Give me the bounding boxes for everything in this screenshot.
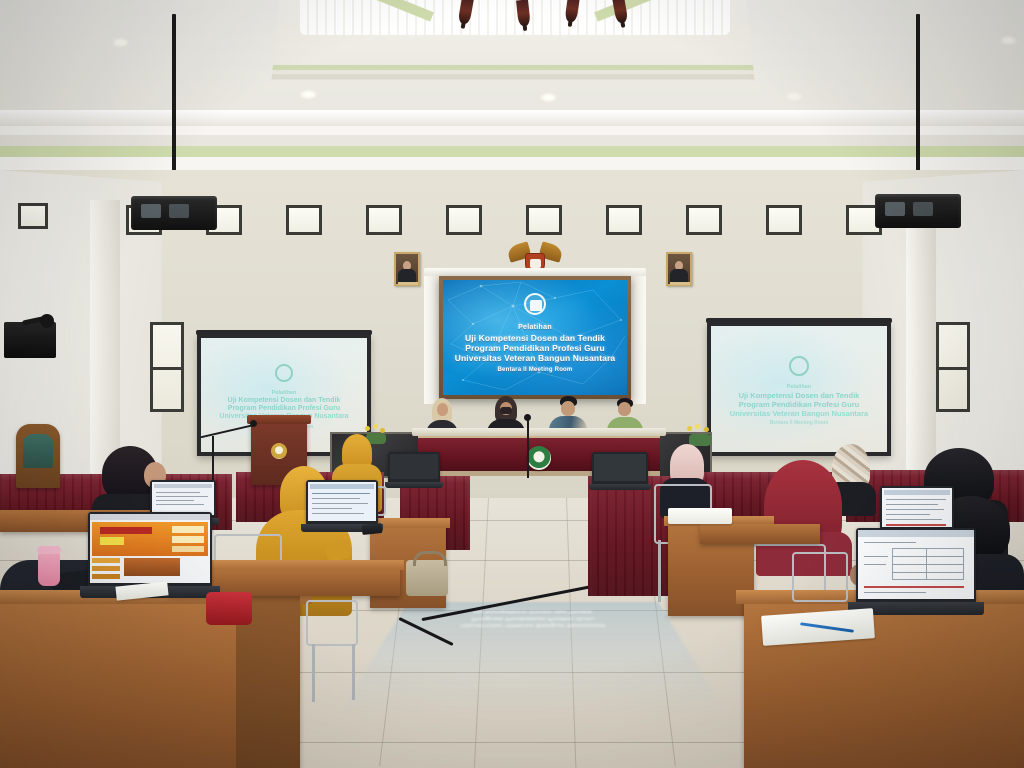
screen-text-row: [886, 514, 930, 515]
portrait-body: [670, 269, 688, 282]
browser-chrome: [90, 514, 210, 520]
chair-leg: [352, 644, 355, 700]
laptop-lid: [880, 486, 954, 530]
chair[interactable]: [306, 600, 358, 646]
laptop-screen: [882, 488, 952, 527]
ceiling-downlight: [1000, 36, 1017, 45]
laptop-screen: [858, 530, 974, 599]
screen-text-row: [312, 508, 352, 509]
slide-line-3: Universitas Veteran Bangun Nusantara: [443, 353, 627, 363]
table-microphone-stand: [527, 420, 529, 478]
reflection-line-1: Universitas Veteran Bangun Nusantara: [392, 621, 675, 628]
clerestory-window: [286, 205, 322, 235]
laptop-lid: [88, 512, 212, 586]
ornate-wooden-chair[interactable]: [16, 424, 60, 488]
red-handbag[interactable]: [206, 592, 252, 625]
screen-text-row: [312, 513, 364, 514]
laptop-screen: [308, 482, 376, 521]
screen-text-row: [156, 496, 208, 497]
table-row-line: [892, 572, 964, 573]
slide-line-0: Pelatihan: [443, 324, 627, 333]
ceiling-tray-inner: [300, 0, 730, 35]
flower: [365, 426, 370, 431]
head-table-top: [412, 428, 666, 436]
screen-text-row: [886, 509, 944, 510]
banner-badge: [100, 537, 124, 545]
screen-header: [154, 484, 212, 488]
right-screen-logo-icon: [789, 356, 809, 376]
screen-text-row: [886, 519, 942, 520]
content-photo: [124, 558, 180, 576]
right-screen-line-3: Universitas Veteran Bangun Nusantara: [711, 409, 887, 418]
clerestory-window: [606, 205, 642, 235]
chair-leg: [312, 644, 315, 702]
left-screen-line-0: Pelatihan: [201, 390, 367, 397]
right-projection-screen: Pelatihan Uji Kompetensi Dosen dan Tendi…: [707, 322, 891, 456]
led-video-wall: Pelatihan Uji Kompetensi Dosen dan Tendi…: [439, 276, 631, 399]
ceiling-white-band: [0, 157, 1024, 171]
left-screen-line-2: Program Pendidikan Profesi Guru: [201, 405, 367, 413]
laptop-base[interactable]: [589, 484, 651, 490]
led-screen-surface: Pelatihan Uji Kompetensi Dosen dan Tendi…: [443, 280, 627, 395]
podium-mic-head: [250, 420, 257, 427]
screen-text-row: [864, 542, 916, 543]
univet-logo-icon: [524, 293, 546, 315]
banner-button[interactable]: [172, 546, 204, 552]
president-portrait: [394, 252, 420, 286]
flower: [704, 427, 709, 432]
laptop-right-front[interactable]: [856, 528, 976, 616]
clerestory-window: [766, 205, 802, 235]
podium-emblem-icon: [271, 443, 287, 459]
screen-text-row: [156, 492, 200, 493]
portrait-nameplate: [670, 282, 690, 285]
laptop-screen: [90, 514, 210, 583]
ceiling-downlight: [112, 38, 129, 47]
portrait-body: [398, 269, 416, 282]
screen-text-row: [312, 498, 360, 499]
spreadsheet-toolbar: [310, 484, 374, 489]
laptop-center-right[interactable]: [592, 452, 648, 490]
screen-text-row: [864, 556, 888, 557]
laptop-lid: [856, 528, 976, 602]
screen-text-row: [156, 504, 204, 505]
right-screen-text: Pelatihan Uji Kompetensi Dosen dan Tendi…: [711, 384, 887, 426]
accent-line: [886, 524, 946, 526]
right-screen-line-1: Uji Kompetensi Dosen dan Tendik: [711, 391, 887, 400]
app-toolbar: [858, 530, 974, 537]
face: [437, 403, 448, 416]
sidebar-item: [92, 566, 120, 571]
wooden-desk-right-mid: [700, 524, 820, 544]
ceiling-downlight: [786, 92, 803, 101]
screen-text-row: [886, 499, 946, 500]
sidebar-item: [92, 574, 120, 579]
face-mask: [500, 407, 512, 414]
laptop-lid: [592, 452, 648, 484]
face: [618, 402, 631, 416]
clerestory-window: [446, 205, 482, 235]
banner-button[interactable]: [172, 536, 204, 543]
ceiling-green-band: [0, 146, 1024, 157]
ceiling-downlight: [540, 93, 557, 102]
slide-line-1: Uji Kompetensi Dosen dan Tendik: [443, 333, 627, 343]
laptop-screen: [390, 454, 438, 479]
slide-line-2: Program Pendidikan Profesi Guru: [443, 343, 627, 353]
laptop-yellow-back[interactable]: [388, 452, 440, 488]
accent-line: [864, 586, 964, 588]
beige-handbag[interactable]: [406, 560, 448, 596]
table-row-line: [892, 556, 964, 557]
face: [561, 401, 575, 416]
banner-button[interactable]: [172, 526, 204, 533]
photo-scene: Pelatihan Uji Kompetensi Dosen dan Tendi…: [0, 0, 1024, 768]
slide-text-block: Pelatihan Uji Kompetensi Dosen dan Tendi…: [443, 324, 627, 374]
screen-text-row: [886, 504, 938, 505]
chair-leg: [658, 540, 661, 602]
speaker-knob: [40, 314, 54, 328]
banner-headline: [100, 527, 152, 534]
screen-text-row: [312, 493, 370, 494]
screen-pilaster-left: [424, 276, 440, 404]
table-microphone-head: [524, 414, 531, 421]
portrait-nameplate: [398, 282, 418, 285]
flower: [687, 426, 692, 431]
clerestory-window: [686, 205, 722, 235]
laptop-base[interactable]: [385, 482, 443, 488]
flower: [373, 424, 378, 429]
laptop-lid: [306, 480, 378, 524]
left-screen-logo-icon: [275, 364, 293, 382]
vice-president-portrait: [666, 252, 692, 286]
laptop-screen: [152, 482, 214, 515]
printed-documents[interactable]: [668, 508, 732, 524]
right-screen-line-0: Pelatihan: [711, 384, 887, 391]
laptop-lid: [388, 452, 440, 482]
screen-text-row: [864, 564, 886, 565]
flower: [695, 424, 700, 429]
right-screen-line-4: Bentara II Meeting Room: [711, 420, 887, 426]
side-window: [150, 322, 184, 412]
ceiling-downlight: [300, 90, 317, 99]
table-row-line: [892, 564, 964, 565]
flower-arrangement-right: [686, 424, 714, 446]
side-window: [936, 322, 970, 412]
sidebar-item: [92, 558, 120, 563]
univet-crest-icon: [527, 446, 551, 470]
laptop-screen: [594, 454, 646, 481]
screen-pilaster-right: [630, 276, 646, 404]
chair[interactable]: [792, 552, 848, 602]
screen-text-row: [864, 592, 926, 593]
clerestory-window: [18, 203, 48, 229]
left-screen-line-1: Uji Kompetensi Dosen dan Tendik: [201, 397, 367, 405]
smartphone[interactable]: [362, 523, 383, 535]
pink-tumbler[interactable]: [38, 552, 60, 586]
clerestory-window: [366, 205, 402, 235]
ceiling-white-band: [0, 126, 1024, 135]
slide-line-4: Bentara II Meeting Room: [443, 367, 627, 374]
ceiling-cornice: [0, 110, 1024, 126]
table-column-divider: [926, 548, 927, 580]
screen-text-row: [312, 503, 368, 504]
clerestory-window: [526, 205, 562, 235]
right-screen-line-2: Program Pendidikan Profesi Guru: [711, 400, 887, 409]
screen-text-row: [156, 500, 194, 501]
ceiling-projector: [875, 194, 961, 228]
spreadsheet-header: [884, 490, 950, 495]
ceiling-projector: [131, 196, 217, 230]
